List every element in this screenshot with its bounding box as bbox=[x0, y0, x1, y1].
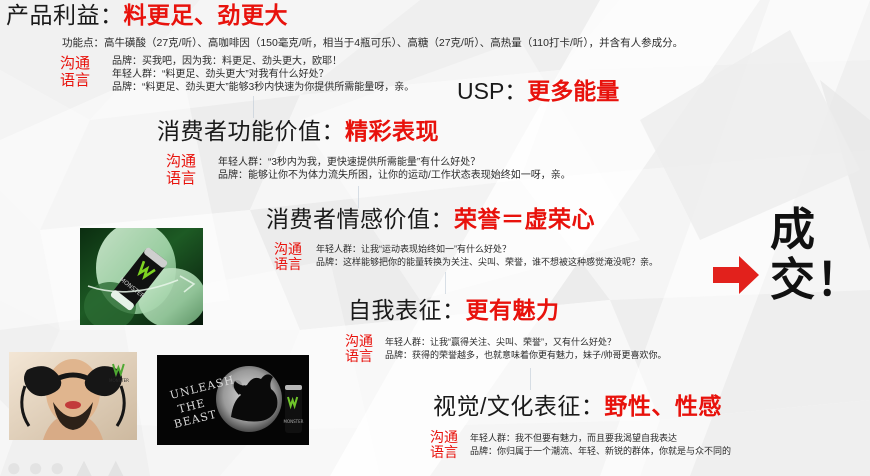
comm-language-tag-4-line2: 语言 bbox=[345, 349, 373, 364]
comm-language-tag-1-line1: 沟通 bbox=[60, 55, 90, 72]
dialog-line: 品牌：你归属于一个潮流、年轻、新锐的群体，你就是与众不同的 bbox=[470, 445, 731, 457]
usp-callout: USP：更多能量 bbox=[457, 80, 619, 103]
section-title-highlight: 更有魅力 bbox=[466, 297, 560, 323]
dialog-line: 年轻人群：我不但要有魅力，而且要我渴望自我表达 bbox=[470, 432, 677, 444]
comm-language-tag-5: 沟通 语言 bbox=[430, 430, 458, 460]
dialog-line: 品牌：获得的荣誉越多，也就意味着你更有魅力，妹子/帅哥更喜欢你。 bbox=[385, 349, 667, 361]
usp-highlight: 更多能量 bbox=[527, 78, 619, 104]
finale-line-2: 交！ bbox=[770, 255, 862, 305]
dialog-line: 品牌：能够让你不为体力流失所困，让你的运动/工作状态表现始终如一呀，亲。 bbox=[218, 169, 571, 182]
slide-canvas: 产品利益：料更足、劲更大 功能点：高牛磺酸（27克/听）、高咖啡因（150毫克/… bbox=[0, 0, 870, 476]
comm-language-tag-4: 沟通 语言 bbox=[345, 334, 373, 364]
dialog-line: 年轻人群：“3秒内为我，更快速提供所需能量”有什么好处？ bbox=[218, 156, 480, 169]
section-title-highlight: 料更足、劲更大 bbox=[124, 2, 289, 28]
comm-language-tag-5-line1: 沟通 bbox=[430, 430, 458, 445]
connector-line-3 bbox=[445, 272, 446, 294]
usp-label: USP： bbox=[457, 78, 527, 104]
section-title-highlight: 野性、性感 bbox=[604, 393, 722, 419]
svg-text:MONSTER: MONSTER bbox=[284, 419, 304, 424]
comm-language-tag-1: 沟通 语言 bbox=[60, 55, 90, 89]
section-title-plain: 视觉/文化表征： bbox=[433, 393, 604, 419]
comm-language-tag-3-line2: 语言 bbox=[274, 257, 302, 272]
section-title-highlight: 荣誉＝虚荣心 bbox=[454, 206, 595, 232]
section-title-highlight: 精彩表现 bbox=[345, 118, 439, 144]
comm-language-tag-3-line1: 沟通 bbox=[274, 242, 302, 257]
section-title-plain: 消费者功能价值： bbox=[157, 118, 345, 144]
photo-mask-model: MONSTER bbox=[9, 352, 137, 440]
feature-points-line: 功能点：高牛磺酸（27克/听）、高咖啡因（150毫克/听，相当于4瓶可乐）、高糖… bbox=[62, 36, 683, 50]
photo-can-body: MONSTER bbox=[80, 228, 203, 325]
comm-language-tag-4-line1: 沟通 bbox=[345, 334, 373, 349]
dialog-line: 年轻人群：让我“赢得关注、尖叫、荣誉”，又有什么好处？ bbox=[385, 336, 616, 348]
dialog-line: 品牌：“料更足、劲头更大”能够3秒内快速为你提供所需能量呀，亲。 bbox=[112, 81, 414, 94]
dialog-line: 品牌：这样能够把你的能量转换为关注、尖叫、荣誉，谁不想被这种感觉淹没呢？亲。 bbox=[316, 256, 658, 268]
photo-unleash-beast: MONSTER UNLEASH THE BEAST bbox=[157, 355, 309, 445]
comm-language-tag-2-line2: 语言 bbox=[166, 170, 196, 187]
section-title-product-benefit: 产品利益：料更足、劲更大 bbox=[6, 4, 288, 27]
finale-line-1: 成 bbox=[770, 205, 862, 255]
dialog-line: 年轻人群：让我“运动表现始终如一”有什么好处？ bbox=[316, 243, 511, 255]
dialog-line: 品牌：买我吧，因为我：料更足、劲头更大，欧耶！ bbox=[112, 55, 342, 68]
connector-line-4 bbox=[530, 368, 531, 390]
section-title-self-expression: 自我表征：更有魅力 bbox=[348, 299, 560, 322]
finale-text: 成 交！ bbox=[770, 205, 862, 305]
connector-line-1 bbox=[253, 96, 254, 118]
section-title-functional-value: 消费者功能价值：精彩表现 bbox=[157, 120, 439, 143]
section-title-plain: 自我表征： bbox=[348, 297, 466, 323]
svg-text:MONSTER: MONSTER bbox=[109, 378, 129, 383]
watermark: ●●●▲▲ bbox=[6, 452, 135, 476]
section-title-plain: 消费者情感价值： bbox=[266, 206, 454, 232]
connector-line-2 bbox=[358, 186, 359, 208]
section-title-emotional-value: 消费者情感价值：荣誉＝虚荣心 bbox=[266, 208, 595, 231]
comm-language-tag-3: 沟通 语言 bbox=[274, 242, 302, 272]
section-title-plain: 产品利益： bbox=[6, 2, 124, 28]
right-arrow-icon bbox=[713, 256, 759, 294]
dialog-line: 年轻人群：“料更足、劲头更大”对我有什么好处？ bbox=[112, 68, 329, 81]
section-title-visual-cultural: 视觉/文化表征：野性、性感 bbox=[433, 395, 722, 418]
comm-language-tag-2-line1: 沟通 bbox=[166, 153, 196, 170]
comm-language-tag-1-line2: 语言 bbox=[60, 72, 90, 89]
comm-language-tag-2: 沟通 语言 bbox=[166, 153, 196, 187]
comm-language-tag-5-line2: 语言 bbox=[430, 445, 458, 460]
